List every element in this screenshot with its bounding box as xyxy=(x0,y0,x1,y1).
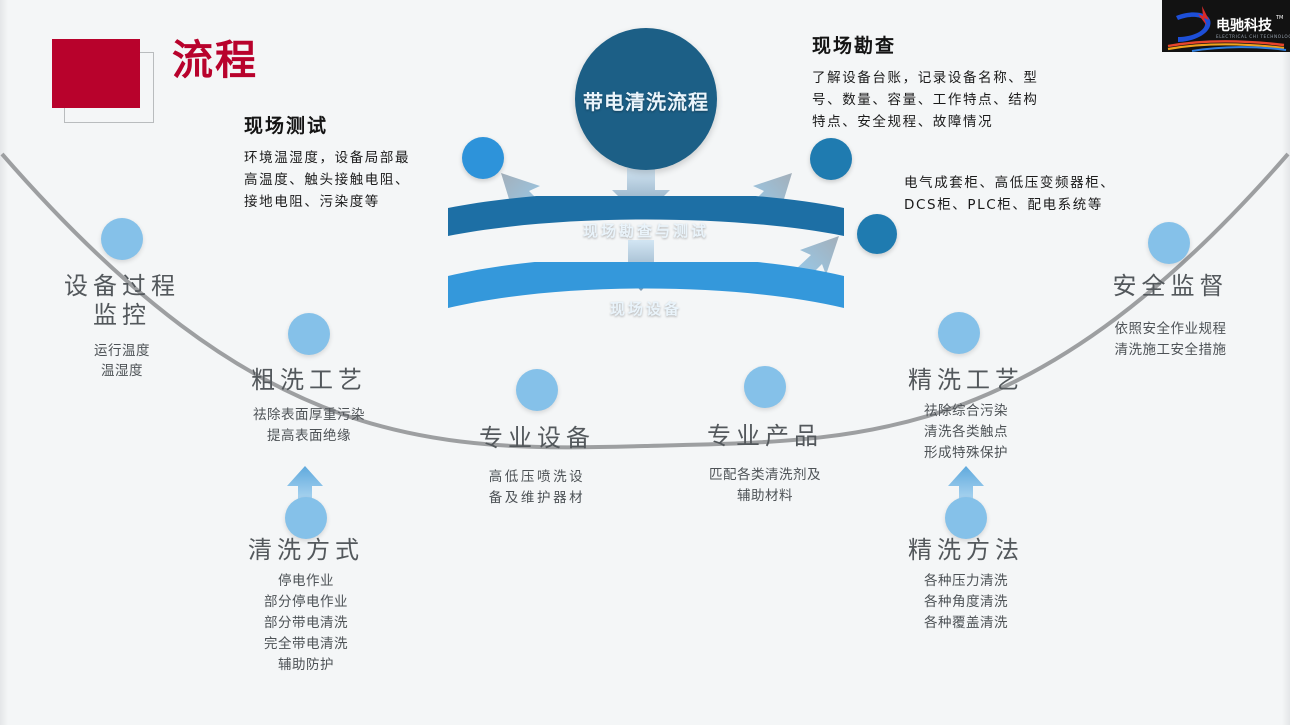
node-dot-rough-wash xyxy=(288,313,330,355)
node-cleaning-method-title: 清洗方式 xyxy=(206,536,406,565)
right-edge-strip xyxy=(1282,0,1290,725)
node-dot-professional-product xyxy=(744,366,786,408)
node-process-monitor-sub: 运行温度 温湿度 xyxy=(22,341,222,383)
node-sub-line: 各种覆盖清洗 xyxy=(866,613,1066,634)
node-fine-wash-method[interactable]: 精洗方法 各种压力清洗 各种角度清洗 各种覆盖清洗 xyxy=(866,536,1066,634)
accent-circle-right-lower xyxy=(857,214,897,254)
node-title-line: 设备过程 xyxy=(22,272,222,301)
callout-site-test-heading: 现场测试 xyxy=(244,114,464,139)
node-rough-wash-title: 粗洗工艺 xyxy=(209,366,409,395)
node-dot-cleaning-method xyxy=(285,497,327,539)
node-rough-wash-process[interactable]: 粗洗工艺 祛除表面厚重污染 提高表面绝缘 xyxy=(209,366,409,447)
node-fine-wash-sub: 祛除综合污染 清洗各类触点 形成特殊保护 xyxy=(866,401,1066,464)
node-sub-line: 辅助防护 xyxy=(206,655,406,676)
node-professional-product-sub: 匹配各类清洗剂及 辅助材料 xyxy=(665,465,865,507)
callout-site-test: 现场测试 环境温湿度，设备局部最 高温度、触头接触电阻、 接地电阻、污染度等 xyxy=(244,114,464,213)
node-safety-supervision[interactable]: 安全监督 依照安全作业规程 清洗施工安全措施 xyxy=(1068,272,1273,361)
node-title-line: 专业设备 xyxy=(437,424,637,453)
node-dot-professional-equipment xyxy=(516,369,558,411)
node-sub-line: 部分带电清洗 xyxy=(206,613,406,634)
node-dot-process-monitor xyxy=(101,218,143,260)
callout-line: 高温度、触头接触电阻、 xyxy=(244,169,464,191)
node-safety-supervision-sub: 依照安全作业规程 清洗施工安全措施 xyxy=(1068,319,1273,361)
callout-site-test-body: 环境温湿度，设备局部最 高温度、触头接触电阻、 接地电阻、污染度等 xyxy=(244,147,464,214)
node-fine-wash-process[interactable]: 精洗工艺 祛除综合污染 清洗各类触点 形成特殊保护 xyxy=(866,366,1066,464)
node-cleaning-method-sub: 停电作业 部分停电作业 部分带电清洗 完全带电清洗 辅助防护 xyxy=(206,571,406,676)
node-safety-supervision-title: 安全监督 xyxy=(1068,272,1273,301)
callout-site-equipment-body: 电气成套柜、高低压变频器柜、 DCS柜、PLC柜、配电系统等 xyxy=(904,172,1204,217)
node-fine-wash-method-title: 精洗方法 xyxy=(866,536,1066,565)
callout-site-survey-heading: 现场勘查 xyxy=(812,34,1112,59)
node-sub-line: 清洗施工安全措施 xyxy=(1068,340,1273,361)
svg-text:电驰科技: 电驰科技 xyxy=(1216,17,1273,34)
arc-banner-site-equipment: 现场设备 xyxy=(448,262,844,328)
node-title-line: 专业产品 xyxy=(665,422,865,451)
callout-site-equipment: 电气成套柜、高低压变频器柜、 DCS柜、PLC柜、配电系统等 xyxy=(904,172,1204,217)
node-sub-line: 各种角度清洗 xyxy=(866,592,1066,613)
arc-banner-label-1: 现场勘查与测试 xyxy=(448,220,844,241)
page-title: 流程 xyxy=(172,40,258,81)
node-dot-fine-wash xyxy=(938,312,980,354)
callout-site-survey-body: 了解设备台账，记录设备名称、型 号、数量、容量、工作特点、结构 特点、安全规程、… xyxy=(812,67,1112,134)
node-sub-line: 运行温度 xyxy=(22,341,222,362)
node-sub-line: 形成特殊保护 xyxy=(866,443,1066,464)
callout-line: 特点、安全规程、故障情况 xyxy=(812,111,1112,133)
node-process-monitor-title: 设备过程 监控 xyxy=(22,272,222,331)
node-professional-equipment-title: 专业设备 xyxy=(437,424,637,453)
node-process-monitor[interactable]: 设备过程 监控 运行温度 温湿度 xyxy=(22,272,222,382)
header-red-square xyxy=(52,39,140,108)
company-logo: 电驰科技 ELECTRICAL CHI TECHNOLOGY TM xyxy=(1162,0,1290,52)
callout-line: 电气成套柜、高低压变频器柜、 xyxy=(904,172,1204,194)
callout-site-survey: 现场勘查 了解设备台账，记录设备名称、型 号、数量、容量、工作特点、结构 特点、… xyxy=(812,34,1112,133)
node-sub-line: 各种压力清洗 xyxy=(866,571,1066,592)
node-title-line: 清洗方式 xyxy=(206,536,406,565)
callout-line: 号、数量、容量、工作特点、结构 xyxy=(812,89,1112,111)
node-title-line: 粗洗工艺 xyxy=(209,366,409,395)
node-sub-line: 完全带电清洗 xyxy=(206,634,406,655)
node-sub-line: 温湿度 xyxy=(22,361,222,382)
node-professional-product[interactable]: 专业产品 匹配各类清洗剂及 辅助材料 xyxy=(665,422,865,507)
node-title-line: 安全监督 xyxy=(1068,272,1273,301)
accent-circle-right-upper xyxy=(810,138,852,180)
node-dot-safety-supervision xyxy=(1148,222,1190,264)
node-rough-wash-sub: 祛除表面厚重污染 提高表面绝缘 xyxy=(209,405,409,447)
accent-circle-left xyxy=(462,137,504,179)
node-sub-line: 祛除综合污染 xyxy=(866,401,1066,422)
svg-text:ELECTRICAL CHI TECHNOLOGY: ELECTRICAL CHI TECHNOLOGY xyxy=(1216,34,1290,39)
left-edge-strip xyxy=(0,0,8,725)
callout-line: 环境温湿度，设备局部最 xyxy=(244,147,464,169)
node-cleaning-method[interactable]: 清洗方式 停电作业 部分停电作业 部分带电清洗 完全带电清洗 辅助防护 xyxy=(206,536,406,676)
callout-line: 接地电阻、污染度等 xyxy=(244,191,464,213)
node-professional-equipment-sub: 高低压喷洗设 备及维护器材 xyxy=(437,467,637,509)
node-title-line: 精洗方法 xyxy=(866,536,1066,565)
node-sub-line: 部分停电作业 xyxy=(206,592,406,613)
node-professional-equipment[interactable]: 专业设备 高低压喷洗设 备及维护器材 xyxy=(437,424,637,509)
node-dot-fine-wash-method xyxy=(945,497,987,539)
node-fine-wash-title: 精洗工艺 xyxy=(866,366,1066,395)
node-sub-line: 辅助材料 xyxy=(665,486,865,507)
callout-line: DCS柜、PLC柜、配电系统等 xyxy=(904,194,1204,216)
arc-banner-survey-test: 现场勘查与测试 xyxy=(448,196,844,256)
node-sub-line: 匹配各类清洗剂及 xyxy=(665,465,865,486)
hub-label: 带电清洗流程 xyxy=(556,86,736,115)
arc-banner-label-2: 现场设备 xyxy=(448,298,844,319)
node-sub-line: 备及维护器材 xyxy=(437,488,637,509)
node-sub-line: 依照安全作业规程 xyxy=(1068,319,1273,340)
node-sub-line: 祛除表面厚重污染 xyxy=(209,405,409,426)
node-sub-line: 提高表面绝缘 xyxy=(209,426,409,447)
node-title-line: 精洗工艺 xyxy=(866,366,1066,395)
node-title-line: 监控 xyxy=(22,301,222,330)
node-sub-line: 高低压喷洗设 xyxy=(437,467,637,488)
node-professional-product-title: 专业产品 xyxy=(665,422,865,451)
node-fine-wash-method-sub: 各种压力清洗 各种角度清洗 各种覆盖清洗 xyxy=(866,571,1066,634)
callout-line: 了解设备台账，记录设备名称、型 xyxy=(812,67,1112,89)
svg-text:TM: TM xyxy=(1275,15,1283,21)
node-sub-line: 清洗各类触点 xyxy=(866,422,1066,443)
node-sub-line: 停电作业 xyxy=(206,571,406,592)
slide-canvas: 流程 电驰科技 ELECTRICAL CHI TECHNOLOGY TM xyxy=(0,0,1290,725)
